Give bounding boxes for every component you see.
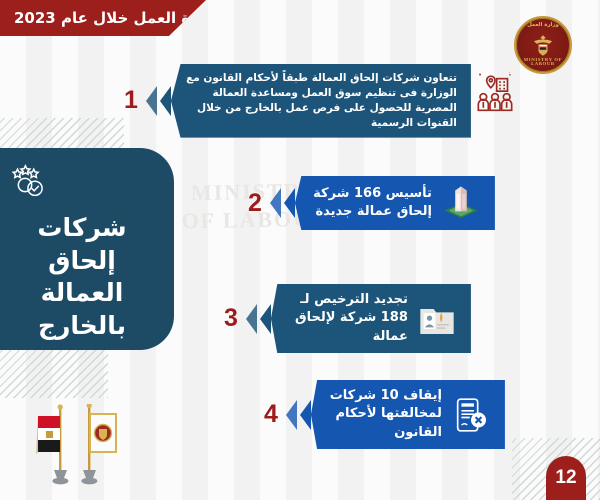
ministry-seal: وزارة العمل Ministry of Labour (514, 16, 572, 74)
recruitment-agency-icon (475, 72, 515, 112)
stat-item-2-text: تأسيس 166 شركة إلحاق عمالة جديدة (305, 185, 432, 222)
page-number: 12 (555, 467, 576, 489)
section-title-panel: شركات إلحاق العمالة بالخارج (0, 148, 174, 350)
document-rejected-icon (451, 395, 491, 435)
hatch-decoration-top-left (0, 118, 124, 152)
chevron-left-icon (260, 304, 271, 334)
stat-item-3-text: تجديد الترخيص لـ 188 شركة لإلحاق عمالة (281, 291, 408, 346)
stat-item-1-text: تتعاون شركات إلحاق العمالة طبقاً لأحكام … (181, 71, 457, 131)
chevron-left-icon (246, 304, 257, 334)
stat-item-2-tail: 2 (246, 188, 297, 218)
seal-english-text: Ministry of Labour (516, 58, 570, 67)
page-number-badge: 12 (546, 456, 586, 500)
stat-item-4: إيقاف 10 شركات لمخالفتها لأحكام القانون … (262, 380, 505, 449)
section-title: شركات إلحاق العمالة بالخارج (10, 212, 158, 342)
infographic-slide: MINISTRYOF LABOUR وزارة العمل خلال عام 2… (0, 0, 600, 500)
stat-item-4-number: 4 (264, 402, 278, 427)
chevron-left-icon (160, 86, 171, 116)
stat-item-1: تتعاون شركات إلحاق العمالة طبقاً لأحكام … (122, 64, 471, 138)
stat-item-2: تأسيس 166 شركة إلحاق عمالة جديدة 2 (246, 176, 495, 230)
quality-badge-icon (10, 160, 50, 200)
stat-item-2-number: 2 (248, 191, 262, 216)
egypt-and-ministry-desk-flags (28, 404, 136, 490)
chevron-left-icon (270, 188, 281, 218)
stat-item-4-tail: 4 (262, 400, 313, 430)
stat-item-3-tail: 3 (222, 304, 273, 334)
stat-item-4-text: إيقاف 10 شركات لمخالفتها لأحكام القانون (321, 387, 442, 442)
chevron-left-icon (300, 400, 311, 430)
header-title: وزارة العمل خلال عام 2023 (14, 9, 222, 27)
seal-arabic-text: وزارة العمل (516, 23, 570, 28)
chevron-left-icon (286, 400, 297, 430)
license-folder-icon (417, 299, 457, 339)
office-tower-icon (441, 183, 481, 223)
chevron-left-icon (284, 188, 295, 218)
header-band: وزارة العمل خلال عام 2023 (0, 0, 206, 36)
stat-item-3: تجديد الترخيص لـ 188 شركة لإلحاق عمالة 3 (222, 284, 471, 353)
chevron-left-icon (146, 86, 157, 116)
eagle-emblem-icon (530, 32, 556, 58)
stat-item-1-number: 1 (124, 88, 138, 113)
hatch-decoration-mid-left (0, 350, 108, 398)
stat-item-3-number: 3 (224, 306, 238, 331)
stat-item-1-tail: 1 (122, 86, 173, 116)
